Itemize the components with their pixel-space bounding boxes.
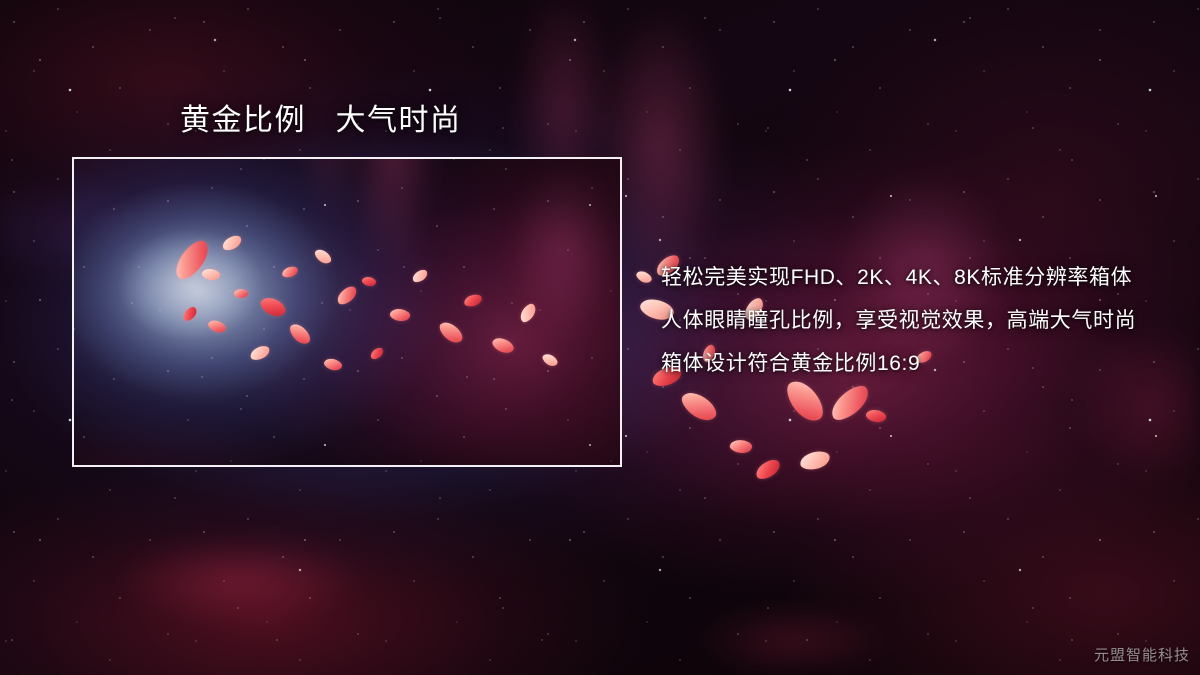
body-copy-line-3: 箱体设计符合黄金比例16:9 (661, 342, 1171, 385)
framed-vignette (74, 159, 620, 465)
presentation-slide: 黄金比例 大气时尚 轻松完美实现FHD、2K、4K、8K标准分辨率箱体 人体眼睛… (0, 0, 1200, 675)
body-copy-line-2: 人体眼睛瞳孔比例，享受视觉效果，高端大气时尚 (661, 299, 1171, 342)
petal (678, 386, 721, 427)
framed-image[interactable] (72, 157, 622, 467)
watermark: 元盟智能科技 (1094, 644, 1190, 665)
petal (635, 268, 654, 285)
page-title: 黄金比例 大气时尚 (180, 102, 462, 140)
body-copy-block: 轻松完美实现FHD、2K、4K、8K标准分辨率箱体 人体眼睛瞳孔比例，享受视觉效… (661, 256, 1171, 385)
petal (799, 450, 831, 471)
petal (865, 407, 888, 425)
petal (753, 457, 783, 482)
petal (729, 438, 753, 455)
framed-image-content (74, 159, 620, 465)
body-copy-line-1: 轻松完美实现FHD、2K、4K、8K标准分辨率箱体 (661, 256, 1171, 299)
